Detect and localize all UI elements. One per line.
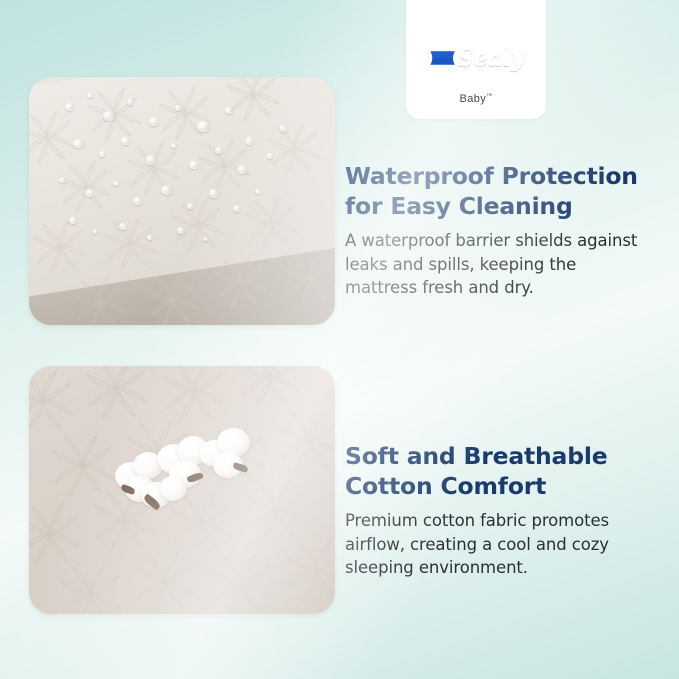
water-bead <box>175 105 181 111</box>
water-bead <box>279 125 287 132</box>
sealy-logo-wordmark: Sealy <box>457 45 524 72</box>
feature-headline: Soft and Breathable Cotton Comfort <box>345 441 645 501</box>
water-bead <box>69 217 77 224</box>
water-bead <box>93 229 98 234</box>
water-bead <box>203 237 208 241</box>
sealy-logo-sublabel: Baby™ <box>459 93 492 105</box>
water-bead <box>197 121 210 132</box>
water-bead <box>145 155 157 165</box>
water-bead <box>119 223 128 230</box>
water-bead <box>215 147 223 154</box>
water-bead <box>99 151 106 157</box>
water-bead <box>85 189 95 197</box>
water-bead <box>161 185 173 195</box>
floral-quilt-pattern <box>29 77 335 325</box>
cotton-puff <box>159 476 187 501</box>
sealy-logo-sublabel-text: Baby <box>459 93 486 105</box>
feature-body: Premium cotton fabric promotes airflow, … <box>345 509 645 579</box>
cotton-fabric-photo <box>29 366 335 614</box>
water-bead <box>237 165 248 174</box>
feature-headline: Waterproof Protection for Easy Cleaning <box>345 161 645 221</box>
water-bead <box>189 161 199 169</box>
water-bead <box>245 137 254 145</box>
water-bead <box>177 227 185 234</box>
sealy-bowtie-icon <box>428 30 457 86</box>
water-bead <box>149 117 159 126</box>
water-bead <box>267 153 273 159</box>
trademark-mark: ™ <box>486 93 492 99</box>
water-bead <box>87 93 93 98</box>
water-bead <box>73 139 84 148</box>
water-bead <box>225 107 233 114</box>
feature-body: A waterproof barrier shields against lea… <box>345 229 645 299</box>
water-bead <box>147 235 153 240</box>
water-bead <box>209 189 219 198</box>
feature-block-waterproof: Waterproof Protection for Easy Cleaning … <box>345 161 645 299</box>
water-bead <box>121 137 130 145</box>
water-bead <box>255 189 261 194</box>
water-bead <box>127 99 134 105</box>
water-bead <box>113 181 119 186</box>
water-bead <box>103 111 115 121</box>
water-bead <box>59 177 66 183</box>
water-bead <box>187 203 194 209</box>
product-feature-graphic: Sealy Baby™ <box>0 0 679 679</box>
sealy-baby-logo: Sealy Baby™ <box>406 0 546 119</box>
water-bead <box>171 143 177 148</box>
water-bead <box>233 205 241 212</box>
feature-block-cotton: Soft and Breathable Cotton Comfort Premi… <box>345 441 645 579</box>
water-bead <box>133 197 142 205</box>
waterproof-mattress-photo <box>29 77 335 325</box>
water-bead <box>65 103 74 111</box>
sealy-logo-mark: Sealy <box>428 30 524 86</box>
